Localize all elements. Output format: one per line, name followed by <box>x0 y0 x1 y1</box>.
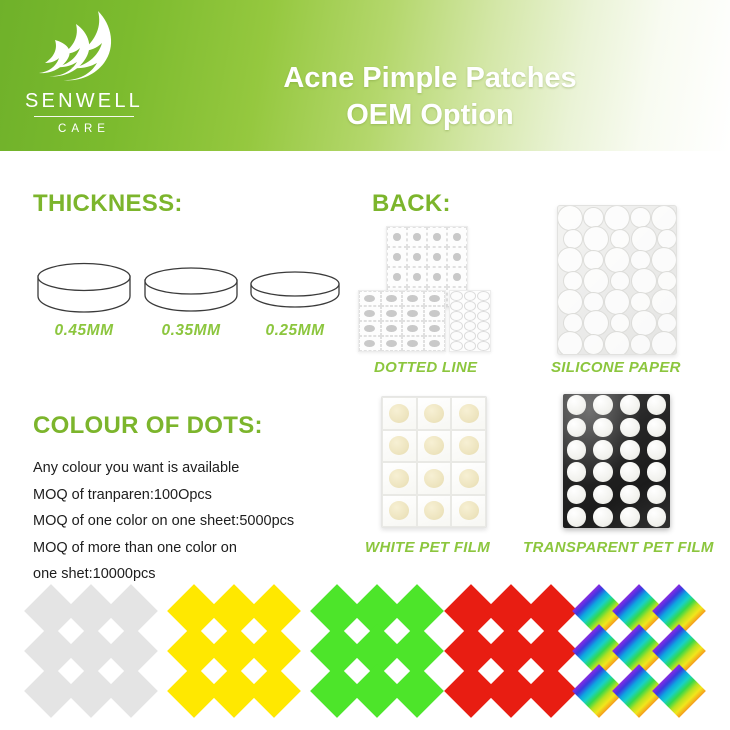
white-pet-dot-icon <box>424 501 444 520</box>
white-pet-cell <box>451 397 486 430</box>
patch-cell <box>427 227 447 247</box>
white-pet-dot-icon <box>459 404 479 423</box>
transparent-pet-dot-icon <box>620 418 640 438</box>
senwell-flame-logo-icon <box>36 10 132 88</box>
white-pet-cell <box>382 430 417 463</box>
patch-ring-cell <box>477 291 490 301</box>
caption-dotted-line: DOTTED LINE <box>374 359 477 376</box>
transparent-pet-dot-icon <box>593 418 613 438</box>
white-pet-dot-icon <box>389 436 409 455</box>
silicone-dot-icon <box>657 229 677 249</box>
patch-dot-icon <box>453 273 461 281</box>
patch-cell <box>359 336 381 351</box>
thickness-item-0: 0.45MM <box>32 262 136 342</box>
thickness-label-1: 0.35MM <box>139 322 243 340</box>
caption-silicone-paper: SILICONE PAPER <box>551 359 681 376</box>
colour-description: Any colour you want is available MOQ of … <box>33 455 363 588</box>
white-pet-cell <box>451 430 486 463</box>
silicone-dot-icon <box>651 331 677 355</box>
transparent-pet-dot-icon <box>593 485 613 505</box>
white-pet-dot-icon <box>424 469 444 488</box>
thickness-item-1: 0.35MM <box>139 266 243 346</box>
silicone-dot-icon <box>610 271 630 291</box>
section-heading-back: BACK: <box>372 190 451 218</box>
patch-cell <box>407 247 427 267</box>
silicone-dot-icon <box>604 247 630 273</box>
patch-dot-icon <box>429 295 440 302</box>
patch-cell <box>427 247 447 267</box>
silicone-paper-sheet <box>557 205 677 355</box>
white-pet-dot-icon <box>389 501 409 520</box>
patch-cell <box>381 321 403 336</box>
patch-dot-icon <box>386 325 397 332</box>
transparent-pet-dot-icon <box>620 440 640 460</box>
patch-ring-cell <box>450 301 463 311</box>
transparent-pet-dot-icon <box>567 440 587 460</box>
transparent-pet-dot-icon <box>647 485 667 505</box>
white-pet-dot-icon <box>459 501 479 520</box>
brand-logo: SENWELL CARE <box>18 8 150 140</box>
disc-thick-icon <box>32 262 136 318</box>
patch-ring-cell <box>463 341 476 351</box>
swatch-diamond <box>524 664 578 718</box>
patch-cell <box>402 291 424 306</box>
colour-line-1: MOQ of tranparen:100Opcs <box>33 482 363 509</box>
patch-cell <box>359 291 381 306</box>
patch-cell <box>402 336 424 351</box>
patch-ring-icon <box>450 341 463 351</box>
patch-ring-icon <box>450 321 463 331</box>
patch-cell <box>402 306 424 321</box>
patch-cell <box>427 267 447 287</box>
dotted-line-sheet-left <box>358 290 446 352</box>
patch-ring-icon <box>464 291 477 301</box>
swatch-diamond <box>390 664 444 718</box>
transparent-pet-dot-icon <box>593 395 613 415</box>
silicone-dot-icon <box>631 268 657 294</box>
silicone-dot-icon <box>583 268 609 294</box>
patch-ring-icon <box>477 301 490 311</box>
patch-ring-icon <box>477 331 490 341</box>
patch-ring-icon <box>464 311 477 321</box>
patch-cell <box>424 336 446 351</box>
silicone-dot-icon <box>630 334 650 354</box>
patch-ring-cell <box>463 301 476 311</box>
brand-tagline: CARE <box>18 119 150 139</box>
silicone-dot-icon <box>557 247 583 273</box>
patch-dot-icon <box>407 325 418 332</box>
transparent-pet-dot-icon <box>620 462 640 482</box>
white-pet-dot-icon <box>389 404 409 423</box>
patch-dot-icon <box>407 295 418 302</box>
white-pet-film-sheet <box>381 396 487 528</box>
patch-dot-icon <box>386 310 397 317</box>
patch-ring-cell <box>477 341 490 351</box>
colour-line-3: MOQ of more than one color on <box>33 535 363 562</box>
patch-dot-icon <box>413 253 421 261</box>
patch-ring-icon <box>464 341 477 351</box>
patch-dot-icon <box>413 273 421 281</box>
patch-cell <box>424 291 446 306</box>
patch-ring-cell <box>463 311 476 321</box>
silicone-dot-icon <box>651 289 677 315</box>
white-pet-cell <box>417 495 452 528</box>
colour-line-4: one shet:10000pcs <box>33 561 363 588</box>
transparent-pet-dot-icon <box>567 462 587 482</box>
swatch-group-yellow <box>175 592 305 712</box>
white-pet-dot-icon <box>424 404 444 423</box>
white-pet-cell <box>417 430 452 463</box>
swatch-diamond <box>652 664 706 718</box>
patch-cell <box>407 227 427 247</box>
patch-ring-cell <box>463 321 476 331</box>
patch-ring-cell <box>450 321 463 331</box>
silicone-dot-icon <box>630 207 650 227</box>
silicone-dot-icon <box>631 310 657 336</box>
transparent-pet-dot-icon <box>620 485 640 505</box>
logo-divider <box>34 116 134 117</box>
patch-ring-icon <box>450 311 463 321</box>
white-pet-cell <box>451 495 486 528</box>
swatch-diamond <box>247 664 301 718</box>
swatch-group-green <box>318 592 448 712</box>
white-pet-dot-icon <box>459 469 479 488</box>
dotted-line-sheet-right <box>449 290 491 352</box>
silicone-dot-icon <box>583 207 603 227</box>
caption-white-pet-film: WHITE PET FILM <box>365 539 490 556</box>
patch-cell <box>387 227 407 247</box>
patch-cell <box>381 336 403 351</box>
colour-line-2: MOQ of one color on one sheet:5000pcs <box>33 508 363 535</box>
patch-dot-icon <box>453 233 461 241</box>
disc-thin-icon <box>243 270 347 316</box>
transparent-pet-film-sheet <box>563 394 670 528</box>
silicone-dot-icon <box>630 250 650 270</box>
patch-dot-icon <box>429 340 440 347</box>
transparent-pet-dot-icon <box>647 462 667 482</box>
transparent-pet-dot-icon <box>567 418 587 438</box>
patch-cell <box>407 267 427 287</box>
patch-cell <box>424 306 446 321</box>
patch-ring-cell <box>463 331 476 341</box>
section-heading-colour: COLOUR OF DOTS: <box>33 412 263 440</box>
patch-dot-icon <box>364 340 375 347</box>
patch-ring-cell <box>450 291 463 301</box>
silicone-dot-icon <box>604 289 630 315</box>
thickness-label-2: 0.25MM <box>243 322 347 340</box>
silicone-dot-icon <box>583 334 603 354</box>
patch-ring-icon <box>464 301 477 311</box>
transparent-pet-dot-icon <box>593 440 613 460</box>
silicone-dot-icon <box>631 226 657 252</box>
silicone-dot-icon <box>604 331 630 355</box>
patch-ring-cell <box>450 311 463 321</box>
silicone-dot-icon <box>557 331 583 355</box>
patch-ring-cell <box>463 291 476 301</box>
patch-ring-icon <box>450 301 463 311</box>
patch-ring-icon <box>450 331 463 341</box>
white-pet-cell <box>382 462 417 495</box>
silicone-dot-icon <box>583 310 609 336</box>
swatch-group-rainbow <box>580 592 710 712</box>
silicone-dot-icon <box>583 226 609 252</box>
transparent-pet-dot-icon <box>647 440 667 460</box>
patch-cell <box>447 267 467 287</box>
patch-dot-icon <box>364 310 375 317</box>
patch-dot-icon <box>433 253 441 261</box>
patch-cell <box>402 321 424 336</box>
patch-dot-icon <box>453 253 461 261</box>
white-pet-cell <box>382 397 417 430</box>
swatch-diamond <box>104 664 158 718</box>
patch-ring-cell <box>450 341 463 351</box>
patch-dot-icon <box>393 253 401 261</box>
patch-ring-icon <box>477 321 490 331</box>
swatch-group-transparent-white <box>32 592 162 712</box>
patch-ring-icon <box>450 291 463 301</box>
patch-dot-icon <box>393 233 401 241</box>
colour-line-0: Any colour you want is available <box>33 455 363 482</box>
caption-transparent-pet-film: TRANSPARENT PET FILM <box>523 539 714 556</box>
patch-cell <box>387 267 407 287</box>
transparent-pet-dot-icon <box>647 418 667 438</box>
silicone-dot-icon <box>563 271 583 291</box>
silicone-dot-icon <box>651 205 677 231</box>
patch-ring-cell <box>477 311 490 321</box>
white-pet-dot-icon <box>459 436 479 455</box>
transparent-pet-dot-icon <box>593 507 613 527</box>
silicone-dot-icon <box>557 289 583 315</box>
patch-ring-icon <box>464 321 477 331</box>
patch-dot-icon <box>386 295 397 302</box>
silicone-dot-icon <box>583 250 603 270</box>
brand-name: SENWELL <box>18 90 150 112</box>
patch-dot-icon <box>364 325 375 332</box>
patch-dot-icon <box>393 273 401 281</box>
patch-dot-icon <box>429 325 440 332</box>
patch-dot-icon <box>364 295 375 302</box>
patch-dot-icon <box>433 233 441 241</box>
white-pet-dot-icon <box>389 469 409 488</box>
disc-medium-icon <box>139 266 243 318</box>
patch-cell <box>381 306 403 321</box>
transparent-pet-dot-icon <box>567 485 587 505</box>
thickness-label-0: 0.45MM <box>32 322 136 340</box>
transparent-pet-dot-icon <box>620 507 640 527</box>
transparent-pet-dot-icon <box>647 395 667 415</box>
patch-dot-icon <box>407 340 418 347</box>
patch-dot-icon <box>433 273 441 281</box>
patch-cell <box>359 321 381 336</box>
page-title: Acne Pimple Patches OEM Option <box>150 60 710 134</box>
white-pet-cell <box>417 397 452 430</box>
transparent-pet-dot-icon <box>647 507 667 527</box>
patch-ring-cell <box>477 331 490 341</box>
patch-ring-icon <box>464 331 477 341</box>
patch-cell <box>359 306 381 321</box>
patch-cell <box>381 291 403 306</box>
silicone-dot-icon <box>604 205 630 231</box>
silicone-dot-icon <box>657 271 677 291</box>
silicone-dot-icon <box>557 205 583 231</box>
patch-dot-icon <box>413 233 421 241</box>
patch-ring-icon <box>477 291 490 301</box>
transparent-pet-dot-icon <box>620 395 640 415</box>
patch-ring-cell <box>477 321 490 331</box>
patch-ring-cell <box>450 331 463 341</box>
title-line-1: Acne Pimple Patches <box>150 60 710 97</box>
patch-cell <box>447 227 467 247</box>
white-pet-dot-icon <box>424 436 444 455</box>
patch-dot-icon <box>429 310 440 317</box>
patch-cell <box>447 247 467 267</box>
white-pet-cell <box>382 495 417 528</box>
patch-cell <box>387 247 407 267</box>
silicone-dot-icon <box>563 229 583 249</box>
transparent-pet-dot-icon <box>567 395 587 415</box>
swatch-group-red <box>452 592 582 712</box>
patch-dot-icon <box>386 340 397 347</box>
thickness-item-2: 0.25MM <box>243 270 347 350</box>
transparent-pet-dot-icon <box>567 507 587 527</box>
silicone-dot-icon <box>610 229 630 249</box>
patch-cell <box>424 321 446 336</box>
transparent-pet-dot-icon <box>593 462 613 482</box>
white-pet-cell <box>451 462 486 495</box>
patch-ring-icon <box>477 311 490 321</box>
section-heading-thickness: THICKNESS: <box>33 190 183 218</box>
white-pet-cell <box>417 462 452 495</box>
patch-ring-icon <box>477 341 490 351</box>
silicone-dot-icon <box>651 247 677 273</box>
patch-ring-cell <box>477 301 490 311</box>
patch-dot-icon <box>407 310 418 317</box>
title-line-2: OEM Option <box>150 97 710 134</box>
